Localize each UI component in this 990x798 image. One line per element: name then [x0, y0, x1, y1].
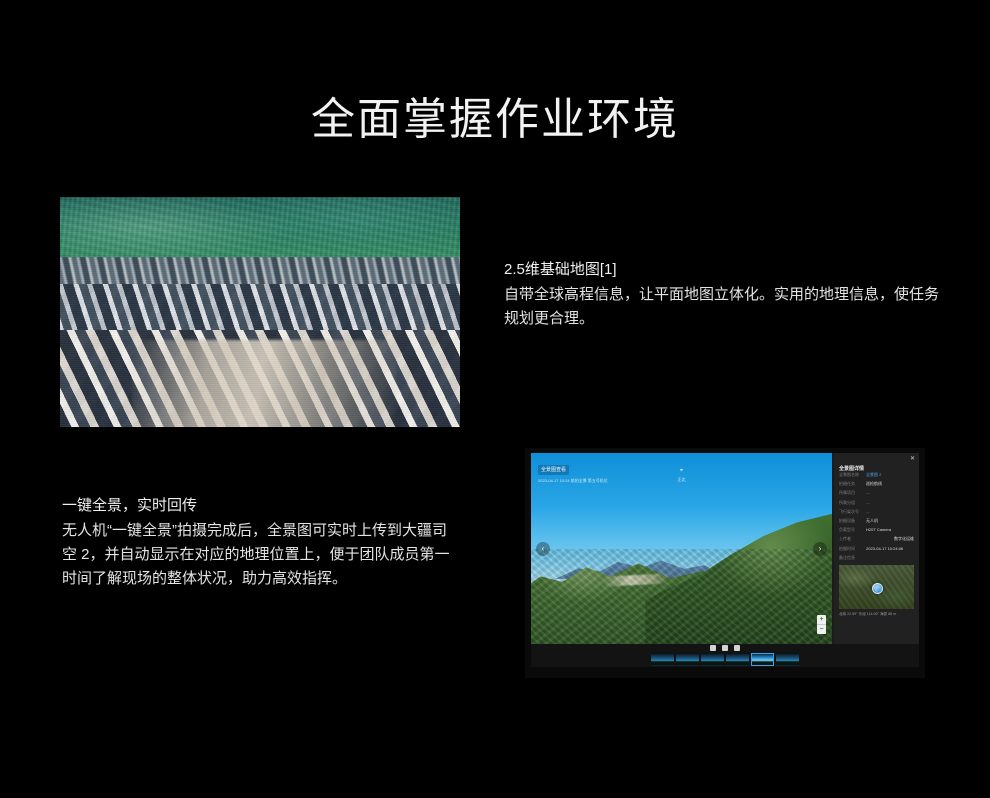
details-row-value: —: [866, 489, 914, 496]
location-minimap[interactable]: [839, 565, 914, 609]
compass-label: 正北: [678, 477, 686, 483]
panorama-details-panel: 全景图详情 ✕ 全景图名称全景图 2拍摄任务巡检航线所属项目—所属分组—飞行架次…: [834, 453, 919, 667]
compass-indicator: ⌖ 正北: [678, 459, 686, 483]
panorama-caption: 一键全景，实时回传 无人机“一键全景”拍摄完成后，全景图可实时上传到大疆司空 2…: [62, 494, 454, 591]
panorama-image-viewport[interactable]: 全景图查看 2023-04-17 10:24 航拍全景 第五号机位 ⌖ 正北 ‹…: [531, 453, 832, 644]
details-row-label: 所属分组: [839, 499, 866, 506]
details-row-value: —: [866, 499, 914, 506]
details-row: 备注信息: [839, 553, 914, 562]
page-title: 全面掌握作业环境: [0, 91, 990, 149]
thumbnail-item[interactable]: [651, 653, 674, 666]
details-row-label: 所属项目: [839, 489, 866, 496]
details-row-value: 巡检航线: [866, 480, 914, 487]
thumbnail-item[interactable]: [776, 653, 799, 666]
details-row: 拍摄任务巡检航线: [839, 479, 914, 488]
panorama-title-badge: 全景图查看: [538, 465, 569, 475]
zoom-out-button[interactable]: −: [817, 624, 826, 634]
details-row: 所属项目—: [839, 488, 914, 497]
details-row-label: 拍摄设备: [839, 517, 866, 524]
details-row: 飞行架次号—: [839, 507, 914, 516]
details-row: 负载型号H20T Camera: [839, 525, 914, 534]
terrain-elevation-map-image: [60, 197, 460, 427]
basemap-caption-heading: 2.5维基础地图[1]: [504, 258, 946, 282]
prev-panorama-button[interactable]: ‹: [536, 542, 550, 556]
details-row-label: 飞行架次号: [839, 508, 866, 515]
terrain-valley-floor: [132, 340, 396, 427]
next-panorama-button[interactable]: ›: [813, 542, 827, 556]
thumbnail-strip: [531, 644, 919, 667]
details-row-value: 无人机: [866, 517, 914, 524]
details-panel-header: 全景图详情 ✕: [834, 453, 919, 469]
details-row: 上传者数字化运维: [839, 534, 914, 543]
panorama-app-window: 全景图查看 2023-04-17 10:24 航拍全景 第五号机位 ⌖ 正北 ‹…: [531, 453, 919, 667]
details-row-value: 2023-04-17 10:24:06: [866, 545, 914, 552]
details-row-value[interactable]: 全景图 2: [866, 471, 914, 478]
zoom-in-button[interactable]: +: [817, 615, 826, 624]
thumbnail-list: [651, 653, 799, 666]
basemap-caption: 2.5维基础地图[1] 自带全球高程信息，让平面地图立体化。实用的地理信息，使任…: [504, 258, 946, 331]
grid-icon[interactable]: [710, 645, 716, 651]
details-row-label: 负载型号: [839, 526, 866, 533]
details-row-list: 全景图名称全景图 2拍摄任务巡检航线所属项目—所属分组—飞行架次号—拍摄设备无人…: [834, 469, 919, 562]
share-icon[interactable]: [722, 645, 728, 651]
details-row: 所属分组—: [839, 498, 914, 507]
basemap-caption-body: 自带全球高程信息，让平面地图立体化。实用的地理信息，使任务规划更合理。: [504, 283, 946, 331]
details-row-label: 备注信息: [839, 554, 866, 561]
panorama-overlay-label: 全景图查看 2023-04-17 10:24 航拍全景 第五号机位: [538, 458, 608, 484]
details-row-label: 拍摄任务: [839, 480, 866, 487]
thumbnail-item[interactable]: [676, 653, 699, 666]
map-pin-icon: [872, 583, 883, 594]
details-row-label: 拍摄时间: [839, 545, 866, 552]
details-panel-title: 全景图详情: [839, 466, 864, 472]
panorama-caption-heading: 一键全景，实时回传: [62, 494, 454, 518]
delete-icon[interactable]: [734, 645, 740, 651]
zoom-controls[interactable]: + −: [817, 615, 826, 634]
panorama-caption-body: 无人机“一键全景”拍摄完成后，全景图可实时上传到大疆司空 2，并自动显示在对应的…: [62, 519, 454, 591]
details-row: 拍摄时间2023-04-17 10:24:06: [839, 544, 914, 553]
thumbnail-item[interactable]: [701, 653, 724, 666]
details-row: 拍摄设备无人机: [839, 516, 914, 525]
close-icon[interactable]: ✕: [910, 456, 915, 463]
compass-icon: ⌖: [680, 468, 683, 474]
minimap-coordinates: 北纬 22.59° 东经 114.06° 海拔 88 m: [839, 611, 914, 617]
details-row-value: —: [866, 508, 914, 515]
thumbnail-item[interactable]: [726, 653, 749, 666]
panorama-viewer-screenshot: 全景图查看 2023-04-17 10:24 航拍全景 第五号机位 ⌖ 正北 ‹…: [525, 448, 925, 678]
details-row-value: 数字化运维: [866, 535, 914, 542]
details-row-label: 上传者: [839, 535, 866, 542]
details-row-value: H20T Camera: [866, 526, 914, 533]
strip-toolbar: [710, 645, 740, 651]
thumbnail-item-selected[interactable]: [751, 653, 774, 666]
panorama-subtitle: 2023-04-17 10:24 航拍全景 第五号机位: [538, 478, 608, 484]
